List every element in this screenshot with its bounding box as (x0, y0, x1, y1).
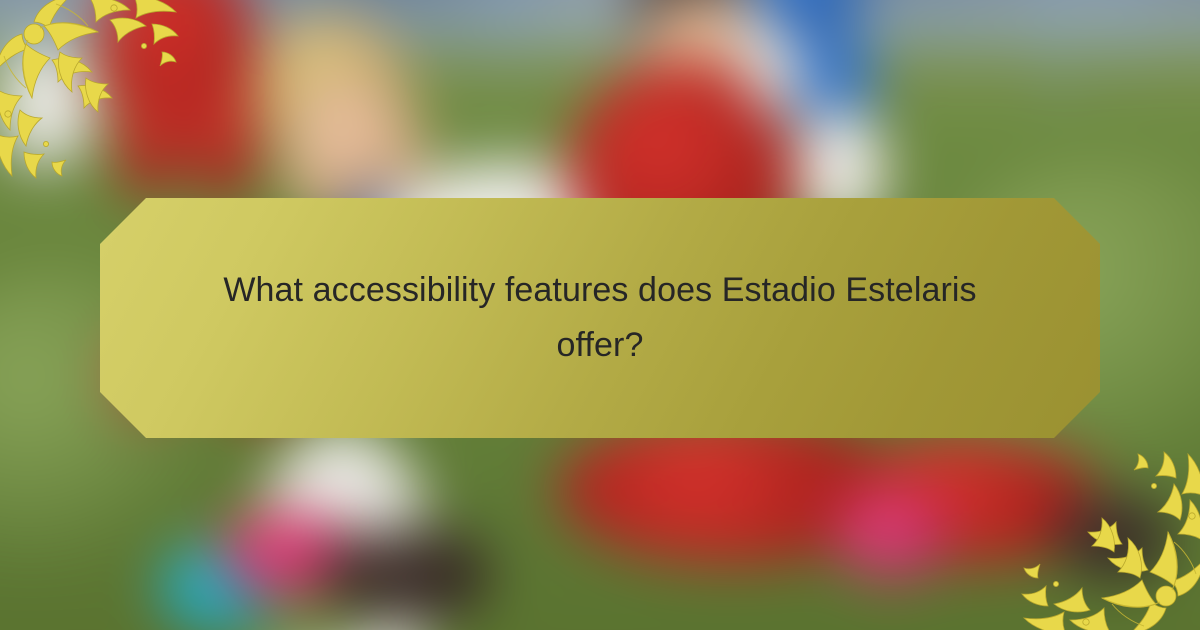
shoe-blob (1056, 495, 1173, 580)
question-text: What accessibility features does Estadio… (186, 263, 1014, 373)
player-blob (0, 45, 97, 172)
shoe-blob (833, 490, 950, 580)
player-blob (192, 77, 256, 209)
player-blob (118, 77, 182, 204)
fence-post (1045, 0, 1073, 119)
shoe-blob (324, 527, 494, 622)
question-card: What accessibility features does Estadio… (100, 198, 1100, 438)
share-card-canvas: What accessibility features does Estadio… (0, 0, 1200, 630)
